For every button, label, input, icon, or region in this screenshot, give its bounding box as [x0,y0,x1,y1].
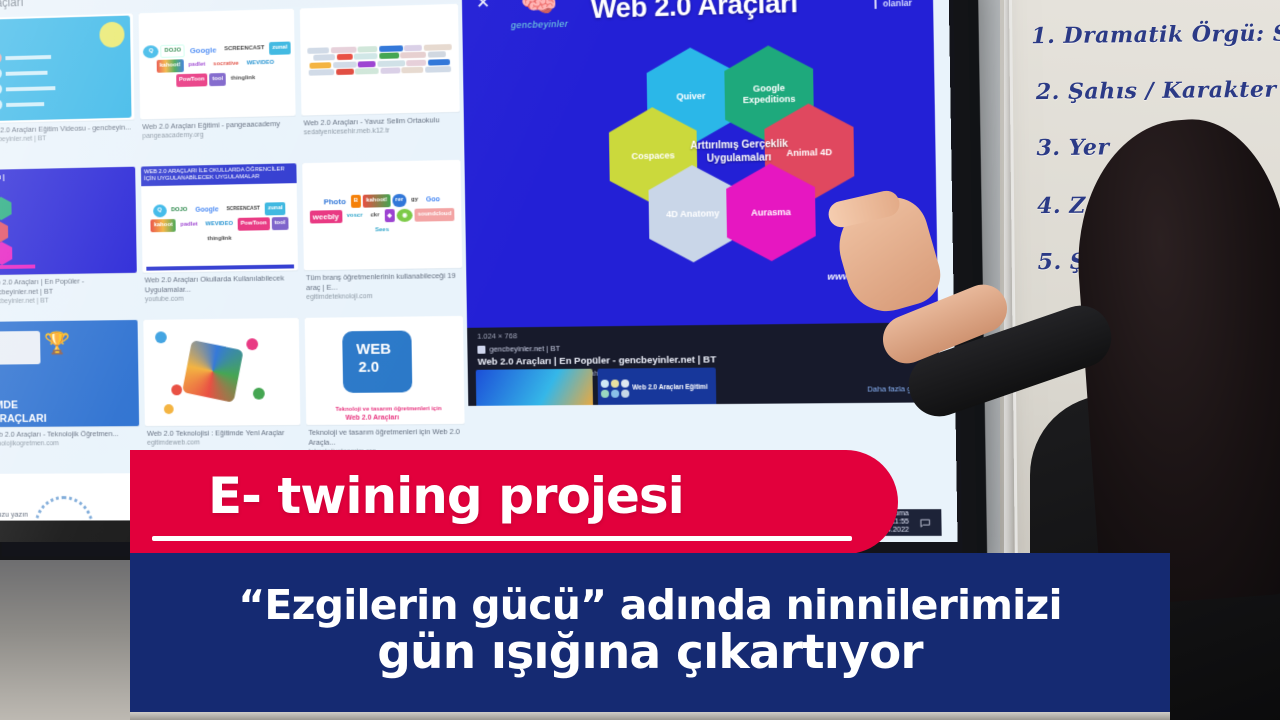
result-thumbnail[interactable]: çları | [0,167,137,275]
whiteboard-line-3: 3. Yer [1036,134,1109,161]
brain-icon: 🧠 [500,0,579,19]
subheadline-banner-navy: “Ezgilerin gücü” adında ninnilerimizi gü… [130,553,1170,712]
result-site: pangeaacademy.org [142,129,294,142]
headline-text: E- twining projesi [130,467,684,525]
result-site: gencbeyinler.net | BT [0,296,135,307]
result-site: egitimdeweb.com [147,438,299,448]
subheadline-line-2: gün ışığına çıkartıyor [377,625,923,680]
result-thumbnail[interactable]: WEB 2.0 ARAÇLARI İLE OKULLARDA ÖĞRENCİLE… [141,163,298,272]
result-site: sedatyenicesehir.meb.k12.tr [304,125,458,138]
result-thumbnail[interactable]: 🏆 İMDE ARAÇLARI [0,320,139,427]
result-title: Web 2.0 Araçları | En Popüler - gencbeyi… [0,277,84,297]
related-card[interactable] [476,369,593,406]
image-result[interactable]: Web 2.0 Araçları Eğitim Videosu - gencbe… [0,13,135,166]
brand-name: gencbeyinler [500,18,579,30]
image-result[interactable]: Web 2.0 Araçları - Yavuz Selim Ortaokulu… [300,4,461,159]
notification-icon[interactable] [919,517,931,528]
result-title: Web 2.0 Teknolojisi : Eğitimde Yeni Araç… [147,428,285,438]
whiteboard-line-2: 2. Şahıs / Karakter [1036,77,1277,106]
result-title: Web 2.0 Araçları - Teknolojik Öğretmen..… [0,429,119,439]
image-dimensions: 1.024 × 768 [477,327,928,341]
image-result[interactable]: çları | Web 2.0 Araçları | En Popüler - … [0,167,137,318]
viewer-image-title: Web 2.0 Araçları [591,0,798,25]
result-caption: Web 2.0 Araçları - Yavuz Selim Ortaokulu… [301,112,460,138]
result-thumbnail[interactable]: Photo B kahoot! rer gy Goo weebly voscr … [302,160,462,270]
result-thumbnail[interactable] [143,318,300,426]
headline-banner-red: E- twining projesi [130,450,898,554]
source-site-label: gencbeyinler.net | BT [489,344,560,354]
image-source[interactable]: gencbeyinler.net | BT [477,340,928,354]
banner-bottom-strip [130,712,1170,720]
result-title: Tüm branş öğretmenlerinin kullanabileceğ… [306,271,456,292]
result-title: Web 2.0 Araçları - Yavuz Selim Ortaokulu [303,115,439,127]
result-thumbnail[interactable]: WEB 2.0 Teknoloji ve tasarım öğretmenler… [305,316,465,425]
result-site: youtube.com [145,293,297,304]
bubble-icons [601,379,630,397]
image-result[interactable]: WEB 2.0 Teknoloji ve tasarım öğretmenler… [305,316,466,469]
related-card[interactable]: Web 2.0 Araçları Eğitimi [597,368,716,406]
result-title: Web 2.0 Araçları Eğitimi - pangeaacademy [142,119,280,131]
result-thumbnail[interactable]: Q DOJO Google SCREENCAST zunal kahoot! p… [139,9,296,120]
result-title: Web 2.0 Araçları Okullarda Kullanılabile… [145,274,285,295]
result-caption: Web 2.0 Teknolojisi : Eğitimde Yeni Araç… [145,425,301,448]
result-thumbnail[interactable] [0,13,134,123]
result-title: Teknoloji ve tasarım öğretmenleri için W… [308,427,460,447]
close-icon[interactable]: ✕ [476,0,491,13]
viewer-image-subtitle: En popüler olanlar [874,0,939,9]
image-result[interactable]: 🏆 İMDE ARAÇLARI Web 2.0 Araçları - Tekno… [0,320,140,470]
related-card-title: Web 2.0 Araçları Eğitimi [632,384,707,393]
favicon-icon [477,345,485,353]
hexagon-center-label: Arttırılmış Gerçeklik Uygulamaları [681,139,797,167]
result-caption: Web 2.0 Araçları Eğitim Videosu - gencbe… [0,120,135,146]
result-caption: Tüm branş öğretmenlerinin kullanabileceğ… [304,268,463,303]
result-site: egitimdeteknoloji.com [306,291,460,302]
whiteboard-line-1: 1. Dramatik Örgü: Sorun [1031,20,1280,49]
related-images-strip[interactable]: Web 2.0 Araçları Eğitimi [468,365,940,405]
screenshot-root: 1. Dramatik Örgü: Sorun 2. Şahıs / Karak… [0,0,1280,720]
headline-underline [152,536,852,541]
result-site: gencbeyinler.net | BT [0,132,133,145]
gencbeyinler-brand: 🧠 gencbeyinler [500,0,579,31]
result-caption: Web 2.0 Araçları Eğitimi - pangeaacademy… [140,116,296,142]
subheadline-line-1: “Ezgilerin gücü” adında ninnilerimizi [238,581,1062,629]
image-result[interactable]: WEB 2.0 ARAÇLARI İLE OKULLARDA ÖĞRENCİLE… [141,163,299,316]
image-result[interactable]: Q DOJO Google SCREENCAST zunal kahoot! p… [139,9,297,163]
result-site: teknolojikogretmen.com [0,439,138,449]
result-thumbnail[interactable] [300,4,460,116]
image-result[interactable]: Web 2.0 Teknolojisi : Eğitimde Yeni Araç… [143,318,301,469]
result-caption: Web 2.0 Araçları - Teknolojik Öğretmen..… [0,426,139,449]
image-result[interactable]: Photo B kahoot! rer gy Goo weebly voscr … [302,160,463,314]
result-caption: Web 2.0 Araçları | En Popüler - gencbeyi… [0,273,137,307]
result-caption: Web 2.0 Araçları Okullarda Kullanılabile… [143,270,299,304]
